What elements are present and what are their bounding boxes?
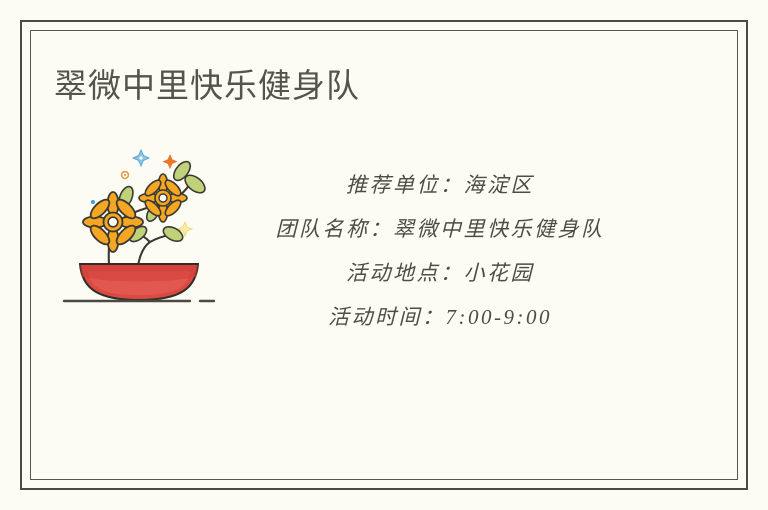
- flower-pot: [80, 264, 198, 300]
- sparkle-blue-dot-icon: [91, 200, 95, 204]
- sparkle-blue-icon: [133, 150, 149, 166]
- info-line-recommending-unit: 推荐单位：海淀区: [222, 163, 658, 207]
- sparkle-orange-dot-icon: [122, 172, 129, 179]
- activity-info-block: 推荐单位：海淀区 团队名称：翠微中里快乐健身队 活动地点：小花园 活动时间：7:…: [222, 163, 658, 339]
- activity-card: 翠微中里快乐健身队: [0, 0, 768, 510]
- flower-pot-illustration: [58, 138, 220, 310]
- info-line-activity-location: 活动地点：小花园: [222, 251, 658, 295]
- info-line-team-name: 团队名称：翠微中里快乐健身队: [222, 207, 658, 251]
- sparkle-orange-star-icon: [162, 154, 177, 169]
- info-line-activity-time: 活动时间：7:00-9:00: [222, 295, 658, 339]
- page-title: 翠微中里快乐健身队: [54, 64, 360, 108]
